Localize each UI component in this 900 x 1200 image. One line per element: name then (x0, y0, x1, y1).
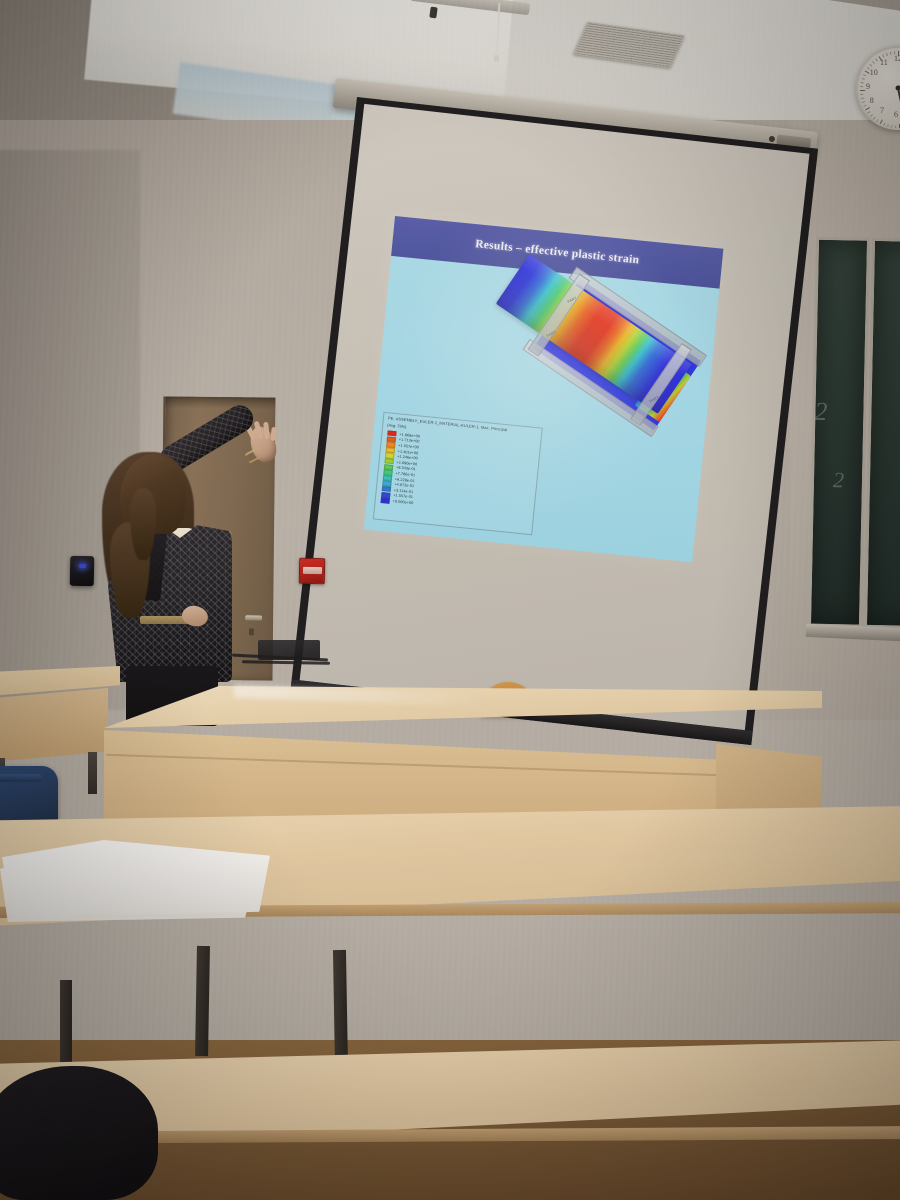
papers-stack (0, 816, 278, 922)
clock-tick (867, 111, 870, 114)
clock-center-pin (896, 86, 900, 91)
hair-lock (130, 488, 156, 560)
paper-sheet (2, 840, 270, 918)
clock-tick (862, 101, 865, 103)
door-shadow (165, 396, 275, 409)
classroom-photo: 121234567891011 2 2 Results – effective … (0, 0, 900, 1200)
chair-foreground (0, 1066, 158, 1200)
clock-numeral: 7 (880, 106, 884, 115)
legend-average-label: (Avg: 75%) (387, 422, 407, 429)
wall-sensor-device[interactable] (70, 556, 95, 586)
cables (232, 652, 340, 668)
chalkboard-panel-right (864, 238, 900, 629)
screen-pull-cord-knob[interactable] (494, 55, 499, 62)
clock-tick (860, 93, 863, 95)
clock-tick (860, 86, 863, 88)
desk-leg (88, 752, 97, 794)
housing-screw-icon (769, 136, 776, 143)
clock-tick (886, 53, 888, 56)
fea-legend: PE, ASSEMBLY_EULER-1_MATERIAL-EULER-1, M… (373, 412, 543, 535)
clock-numeral: 9 (866, 82, 870, 91)
chalkboard-panel-left (808, 237, 870, 628)
clock-tick (873, 116, 876, 119)
legend-value-label: +0.000e+00 (393, 499, 414, 505)
clock-numeral: 6 (894, 110, 898, 119)
clock-tick (875, 58, 878, 61)
legend-colorbar: +1.869e+00+1.713e+00+1.557e+00+1.401e+00… (381, 430, 421, 506)
clock-numeral: 10 (870, 68, 878, 77)
clock-tick (895, 126, 897, 129)
clock-tick (863, 74, 866, 76)
clock-tick (869, 64, 872, 67)
clock-tick (863, 104, 866, 106)
chalkboard: 2 2 (808, 237, 900, 630)
side-desk-front (0, 688, 108, 762)
clock-tick (872, 61, 875, 64)
bag-strap (0, 774, 42, 782)
clock-tick (876, 119, 879, 122)
clock-tick (860, 90, 865, 91)
legend-color-swatch (381, 497, 390, 503)
projected-slide: Results – effective plastic strain PART … (364, 216, 724, 562)
clock-numeral: 11 (880, 58, 888, 67)
belt (140, 616, 188, 624)
cable (242, 660, 330, 665)
finger (270, 427, 276, 441)
projection-screen: Results – effective plastic strain PART … (290, 97, 818, 745)
clock-tick (861, 82, 864, 84)
clock-numeral: 12 (894, 54, 900, 63)
presenter (96, 430, 326, 710)
clock-tick (862, 78, 865, 80)
clock-tick (870, 114, 873, 117)
clock-tick (891, 125, 893, 128)
clock-tick (883, 123, 885, 126)
sensor-led-icon (79, 564, 86, 568)
clock-numeral: 8 (870, 96, 874, 105)
clock-tick (890, 52, 892, 55)
clock-tick (887, 124, 889, 127)
clock-tick (861, 97, 864, 99)
